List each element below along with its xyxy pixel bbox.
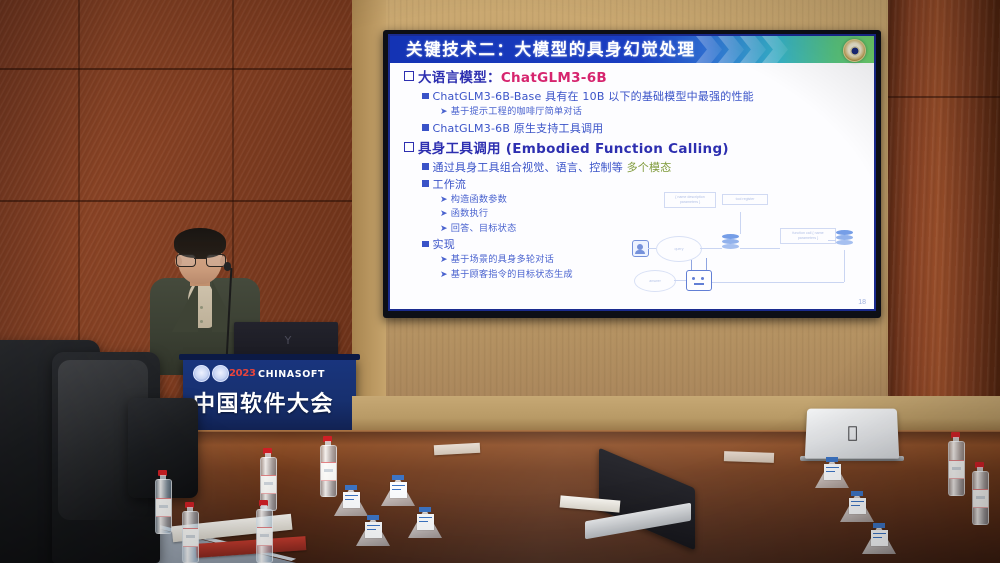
robot-antenna bbox=[706, 258, 707, 270]
holder-tab bbox=[851, 491, 863, 496]
bottle-label bbox=[183, 528, 198, 547]
name-card-holder bbox=[334, 486, 368, 516]
bottle-label bbox=[973, 489, 988, 508]
name-card bbox=[343, 492, 360, 508]
slide-bullet-level1: 具身工具调用 (Embodied Function Calling) bbox=[404, 140, 866, 159]
holder-tab bbox=[345, 485, 357, 490]
square-filled-bullet-icon bbox=[422, 180, 429, 187]
cloud-icon-answer: answer bbox=[634, 270, 676, 292]
bullet-text: 基于顾客指令的目标状态生成 bbox=[451, 269, 573, 280]
podium-brand: CHINASOFT bbox=[258, 369, 325, 380]
glasses-icon bbox=[176, 254, 224, 265]
bottle-body bbox=[182, 511, 199, 563]
name-card bbox=[365, 522, 382, 538]
wall-seam bbox=[0, 68, 352, 70]
bullet-text: ChatGLM3-6B-Base 具有在 10B 以下的基础模型中最强的性能 bbox=[433, 90, 754, 103]
bottle-body bbox=[256, 509, 273, 563]
slide-page-number: 18 bbox=[858, 299, 866, 306]
holder-tab bbox=[826, 457, 838, 462]
apple-logo-icon:  bbox=[845, 424, 860, 441]
paper-document bbox=[724, 451, 774, 463]
diagram-connector bbox=[740, 248, 780, 249]
name-card bbox=[417, 514, 434, 530]
square-filled-bullet-icon bbox=[422, 93, 429, 100]
bullet-text: 通过具身工具组合视觉、语言、控制等 bbox=[433, 161, 627, 174]
diagram-connector bbox=[712, 282, 844, 283]
diagram-connector bbox=[700, 248, 722, 249]
bullet-text: 构造函数参数 bbox=[451, 194, 507, 205]
bottle-label bbox=[949, 460, 964, 479]
arrow-bullet-icon: ➤ bbox=[440, 105, 448, 120]
square-outline-bullet-icon bbox=[404, 142, 414, 152]
holder-tab bbox=[419, 507, 431, 512]
slide-title-bar: 关键技术二：大模型的具身幻觉处理 bbox=[390, 36, 874, 63]
bullet-text: 基于场景的具身多轮对话 bbox=[451, 254, 554, 265]
wall-panel-edge bbox=[352, 0, 386, 402]
wall-seam bbox=[0, 200, 352, 202]
name-card bbox=[390, 482, 407, 498]
arrow-bullet-icon: ➤ bbox=[440, 222, 448, 237]
name-card bbox=[849, 498, 866, 514]
bullet-text: 基于提示工程的咖啡厅简单对话 bbox=[451, 106, 582, 117]
wall-seam bbox=[888, 96, 1000, 98]
presentation-room-scene: 关键技术二：大模型的具身幻觉处理 大语言模型：ChatGLM3-6B ChatG… bbox=[0, 0, 1000, 563]
diagram-node-function-call: function call { name parameters } bbox=[780, 228, 836, 244]
robot-antenna bbox=[691, 260, 692, 270]
arrow-bullet-icon: ➤ bbox=[440, 268, 448, 283]
podium-year: 2023 bbox=[229, 368, 256, 379]
display-inner-bezel: 关键技术二：大模型的具身幻觉处理 大语言模型：ChatGLM3-6B ChatG… bbox=[388, 34, 876, 311]
square-filled-bullet-icon bbox=[422, 241, 429, 248]
slide-bullet-level3: ➤基于提示工程的咖啡厅简单对话 bbox=[440, 105, 866, 120]
conference-logo-right-icon bbox=[212, 365, 229, 382]
slide-title: 关键技术二：大模型的具身幻觉处理 bbox=[406, 38, 696, 62]
name-card-holder bbox=[356, 516, 390, 546]
robot-icon bbox=[686, 270, 712, 291]
bottle-label bbox=[156, 498, 171, 517]
bottle-label bbox=[257, 527, 272, 546]
arrow-bullet-icon: ➤ bbox=[440, 207, 448, 222]
square-filled-bullet-icon bbox=[422, 124, 429, 131]
slide-bullet-level2: 通过具身工具组合视觉、语言、控制等 多个模态 bbox=[422, 159, 866, 176]
macbook-laptop:  bbox=[805, 409, 899, 459]
slide-bullet-level2: ChatGLM3-6B-Base 具有在 10B 以下的基础模型中最强的性能 bbox=[422, 88, 866, 105]
cloud-icon-query: query bbox=[656, 236, 702, 262]
name-card bbox=[871, 530, 888, 546]
square-filled-bullet-icon bbox=[422, 163, 429, 170]
diagram-node-tool-spec: { name description parameters } bbox=[664, 192, 716, 208]
jacket-button bbox=[200, 320, 203, 323]
bullet-text: 函数执行 bbox=[451, 208, 489, 219]
database-icon bbox=[722, 234, 739, 253]
slide-surface: 关键技术二：大模型的具身幻觉处理 大语言模型：ChatGLM3-6B ChatG… bbox=[390, 36, 874, 309]
bullet-text: 工作流 bbox=[433, 178, 467, 191]
name-card-holder bbox=[840, 492, 874, 522]
bullet-text: 具身工具调用 (Embodied Function Calling) bbox=[418, 141, 729, 157]
diagram-node-tool-register: tool register bbox=[722, 194, 768, 205]
holder-tab bbox=[367, 515, 379, 520]
square-outline-bullet-icon bbox=[404, 71, 414, 81]
diagram-connector bbox=[674, 280, 686, 281]
wall-column-right bbox=[888, 0, 1000, 434]
podium-sign: 2023 CHINASOFT 中国软件大会 bbox=[183, 358, 356, 436]
name-card-holder bbox=[815, 458, 849, 488]
bottle-body bbox=[972, 471, 989, 525]
name-card-holder bbox=[381, 476, 415, 506]
slide-bullet-level1: 大语言模型：ChatGLM3-6B bbox=[404, 69, 866, 88]
bullet-text: ChatGLM3-6B 原生支持工具调用 bbox=[433, 122, 604, 135]
slide-bullet-level2: 工作流 bbox=[422, 176, 866, 193]
diagram-connector bbox=[648, 248, 656, 249]
podium-top-edge bbox=[179, 354, 360, 360]
arrow-bullet-icon: ➤ bbox=[440, 253, 448, 268]
diagram-connector bbox=[828, 240, 836, 241]
diagram-connector bbox=[740, 212, 741, 234]
title-chevron-decoration bbox=[696, 36, 816, 63]
slide-bullet-level2: ChatGLM3-6B 原生支持工具调用 bbox=[422, 120, 866, 137]
arrow-bullet-icon: ➤ bbox=[440, 193, 448, 208]
bullet-text: 回答、目标状态 bbox=[451, 223, 517, 234]
university-emblem-icon bbox=[843, 39, 866, 62]
podium-chinese-name: 中国软件大会 bbox=[193, 386, 334, 418]
database-icon bbox=[836, 230, 853, 249]
bullet-accent-text: 多个模态 bbox=[627, 161, 672, 174]
name-card bbox=[824, 464, 841, 480]
name-card-holder bbox=[408, 508, 442, 538]
diagram-connector bbox=[844, 250, 845, 282]
legion-y-logo-icon: Y bbox=[282, 336, 294, 346]
bullet-text: 大语言模型： bbox=[418, 70, 501, 86]
microphone-head bbox=[224, 262, 231, 271]
name-card-holder bbox=[862, 524, 896, 554]
bottle-body bbox=[948, 441, 965, 496]
bottle-label bbox=[261, 475, 276, 494]
presentation-display: 关键技术二：大模型的具身幻觉处理 大语言模型：ChatGLM3-6B ChatG… bbox=[383, 30, 881, 318]
conference-logo-left-icon bbox=[193, 365, 210, 382]
bullet-accent-text: ChatGLM3-6B bbox=[501, 70, 607, 86]
jacket-button bbox=[200, 306, 203, 309]
bottle-body bbox=[155, 479, 172, 534]
holder-tab bbox=[392, 475, 404, 480]
bottle-label bbox=[321, 462, 336, 481]
function-calling-flow-diagram: { name description parameters } tool reg… bbox=[630, 192, 868, 297]
user-icon bbox=[632, 240, 649, 257]
holder-tab bbox=[873, 523, 885, 528]
bullet-text: 实现 bbox=[433, 238, 455, 251]
